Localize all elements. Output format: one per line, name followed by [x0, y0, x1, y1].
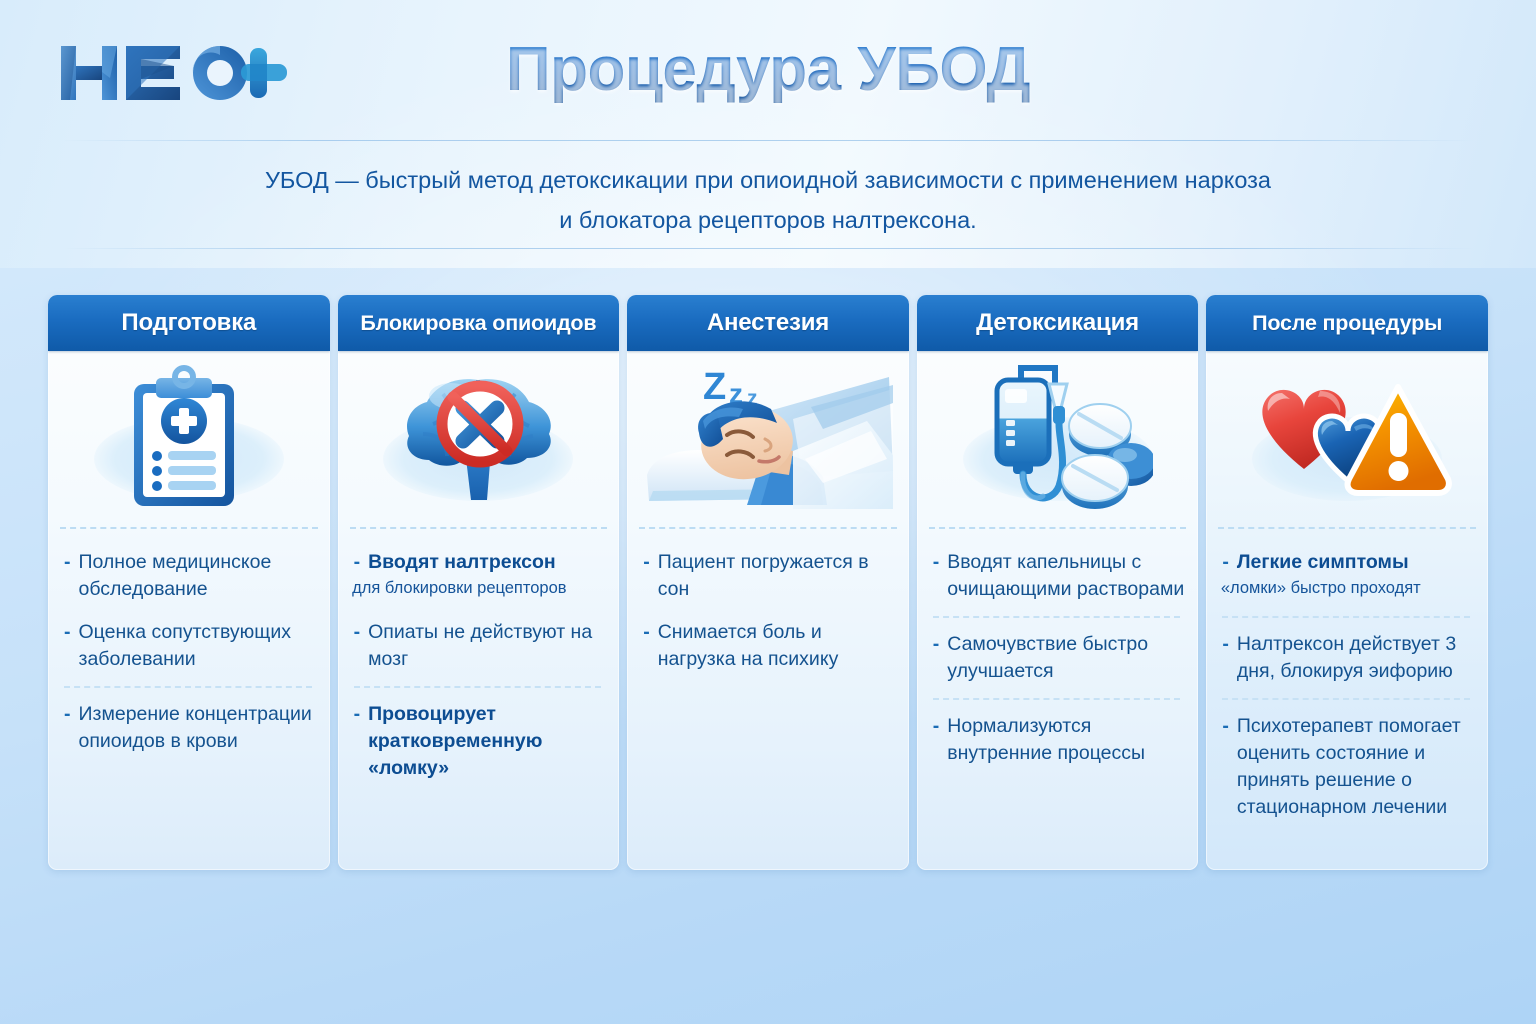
bullet-dash: -: [64, 701, 71, 755]
bullet-dash: -: [933, 549, 940, 603]
list-separator: [354, 686, 602, 688]
spacer: [354, 603, 606, 619]
bullet-dash: -: [354, 701, 361, 782]
list-item-text: Вводят налтрексон: [368, 549, 605, 576]
list-item-text: Самочувствие быстро улучшается: [947, 631, 1184, 685]
list-item-text: Легкие симптомы: [1237, 549, 1474, 576]
list-item-text: Налтрексон действует 3 дня, блокируя эиф…: [1237, 631, 1474, 685]
list-separator: [933, 616, 1181, 618]
list-item: - Провоцирует кратковременную «ломку»: [354, 701, 606, 782]
list-item-text: Измерение концентрации опиоидов в крови: [79, 701, 316, 755]
list-item: - Нормализуются внутренние процессы: [933, 713, 1185, 767]
list-item: - Психотерапевт помогает оценить состоян…: [1222, 713, 1474, 821]
list-item-text: Полное медицинское обследование: [79, 549, 316, 603]
list-item: - Измерение концентрации опиоидов в кров…: [64, 701, 316, 755]
bullet-dash: -: [354, 619, 361, 673]
icon-area-after-procedure: [1206, 351, 1488, 527]
list-item-text: Нормализуются внутренние процессы: [947, 713, 1184, 767]
list-item-subtext: для блокировки рецепторов: [352, 576, 566, 603]
bullet-dash: -: [933, 713, 940, 767]
sleeping-patient-icon: Z z z: [643, 359, 893, 519]
list-item: - Налтрексон действует 3 дня, блокируя э…: [1222, 631, 1474, 685]
steps-card-row: Подготовка: [48, 295, 1488, 870]
list-separator: [933, 698, 1181, 700]
list-item-text: Психотерапевт помогает оценить состояние…: [1237, 713, 1474, 821]
card-anesthesia[interactable]: Анестезия: [627, 295, 909, 870]
list-item: - Пациент погружается в сон: [643, 549, 895, 603]
card-body-after-procedure: - Легкие симптомы - «ломки» быстро прохо…: [1206, 529, 1488, 870]
subtitle-line-1: УБОД — быстрый метод детоксикации при оп…: [0, 160, 1536, 200]
bullet-dash: -: [64, 549, 71, 603]
bullet-dash: -: [1222, 713, 1229, 821]
card-after-procedure[interactable]: После процедуры: [1206, 295, 1488, 870]
card-body-anesthesia: - Пациент погружается в сон - Снимается …: [627, 529, 909, 870]
list-item: - Опиаты не действуют на мозг: [354, 619, 606, 673]
list-item: - Снимается боль и нагрузка на психику: [643, 619, 895, 673]
bullet-dash: -: [64, 619, 71, 673]
subtitle-line-2: и блокатора рецепторов налтрексона.: [0, 200, 1536, 240]
bullet-dash: -: [354, 549, 361, 576]
card-preparation[interactable]: Подготовка: [48, 295, 330, 870]
list-item: - Легкие симптомы: [1222, 549, 1474, 576]
icon-area-opioid-blocking: [338, 351, 620, 527]
card-title-anesthesia: Анестезия: [707, 309, 829, 337]
list-item: - Полное медицинское обследование: [64, 549, 316, 603]
card-header-anesthesia: Анестезия: [627, 295, 909, 351]
brain-blocked-icon: [383, 364, 573, 514]
list-separator: [1222, 698, 1470, 700]
list-item-text: Провоцирует кратковременную «ломку»: [368, 701, 605, 782]
list-separator: [1222, 616, 1470, 618]
neo-plus-logo: [58, 38, 288, 108]
icon-area-preparation: [48, 351, 330, 527]
list-item-text: Пациент погружается в сон: [658, 549, 895, 603]
zzz-label: Z: [703, 366, 726, 408]
list-item: - Оценка сопутствующих заболевании: [64, 619, 316, 673]
bullet-dash: -: [643, 619, 650, 673]
card-body-detoxification: - Вводят капельницы с очищающими раствор…: [917, 529, 1199, 870]
list-item-text: Снимается боль и нагрузка на психику: [658, 619, 895, 673]
list-item-sub: - для блокировки рецепторов: [354, 576, 606, 603]
header-divider-top: [62, 140, 1474, 141]
card-opioid-blocking[interactable]: Блокировка опиоидов: [338, 295, 620, 870]
list-item-text: Вводят капельницы с очищающими растворам…: [947, 549, 1184, 603]
card-body-preparation: - Полное медицинское обследование - Оцен…: [48, 529, 330, 870]
page-header: Процедура УБОД УБОД — быстрый метод дето…: [0, 0, 1536, 268]
card-title-opioid-blocking: Блокировка опиоидов: [360, 311, 596, 336]
spacer: [64, 603, 316, 619]
list-item-sub: - «ломки» быстро проходят: [1222, 576, 1474, 603]
bullet-dash: -: [643, 549, 650, 603]
hearts-warning-icon: [1242, 369, 1452, 509]
icon-area-detoxification: [917, 351, 1199, 527]
card-title-preparation: Подготовка: [121, 309, 256, 337]
card-title-detoxification: Детоксикация: [976, 309, 1139, 337]
card-title-after-procedure: После процедуры: [1252, 311, 1442, 336]
card-header-opioid-blocking: Блокировка опиоидов: [338, 295, 620, 351]
bullet-dash: -: [1222, 549, 1229, 576]
list-item: - Самочувствие быстро улучшается: [933, 631, 1185, 685]
page-subtitle: УБОД — быстрый метод детоксикации при оп…: [0, 160, 1536, 240]
header-divider-bottom: [62, 248, 1474, 249]
clipboard-medical-icon: [109, 364, 269, 514]
card-header-after-procedure: После процедуры: [1206, 295, 1488, 351]
list-separator: [64, 686, 312, 688]
list-item-subtext: «ломки» быстро проходят: [1221, 576, 1421, 603]
list-item: - Вводят налтрексон: [354, 549, 606, 576]
list-item-text: Оценка сопутствующих заболевании: [79, 619, 316, 673]
card-detoxification[interactable]: Детоксикация: [917, 295, 1199, 870]
card-header-detoxification: Детоксикация: [917, 295, 1199, 351]
list-item-text: Опиаты не действуют на мозг: [368, 619, 605, 673]
bullet-dash: -: [1222, 631, 1229, 685]
list-item: - Вводят капельницы с очищающими раствор…: [933, 549, 1185, 603]
iv-drip-pills-icon: [963, 362, 1153, 517]
bullet-dash: -: [933, 631, 940, 685]
card-body-opioid-blocking: - Вводят налтрексон - для блокировки рец…: [338, 529, 620, 870]
spacer: [643, 603, 895, 619]
card-header-preparation: Подготовка: [48, 295, 330, 351]
icon-area-anesthesia: Z z z: [627, 351, 909, 527]
